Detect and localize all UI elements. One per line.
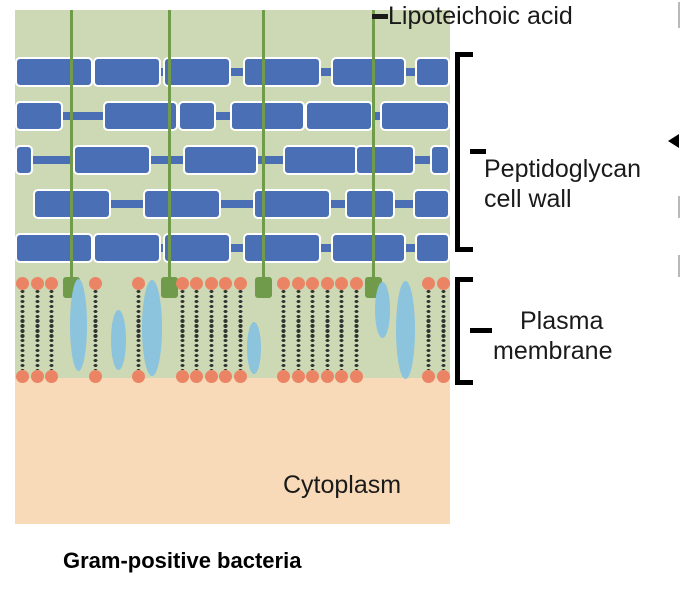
lipoteichoic-acid-strand [262,10,265,281]
plasma-membrane-label-line2: membrane [493,337,613,366]
peptidoglycan-row [15,189,450,219]
peptidoglycan-crosslink [111,200,143,208]
peptidoglycan-block [283,145,358,175]
phospholipid-lower [422,318,435,383]
peptidoglycan-crosslink [63,112,103,120]
peptidoglycan-block [163,57,231,87]
peptidoglycan-block [73,145,151,175]
peptidoglycan-crosslink [321,68,331,76]
peptidoglycan-block [15,57,93,87]
phospholipid-tail [19,318,26,370]
phospholipid-tail [237,318,244,370]
phospholipid-lower [321,318,334,383]
phospholipid-lower [190,318,203,383]
membrane-protein [111,310,126,370]
peptidoglycan-bracket-tick [470,149,486,154]
phospholipid-head [422,370,435,383]
phospholipid-tail [34,318,41,370]
peptidoglycan-row [15,57,450,87]
plasma-membrane-label-line1: Plasma [520,307,603,336]
peptidoglycan-block [430,145,450,175]
peptidoglycan-block [15,145,33,175]
lipoteichoic-acid-leader [372,14,388,19]
phospholipid-tail [48,318,55,370]
figure-caption: Gram-positive bacteria [63,548,301,574]
peptidoglycan-block [93,57,161,87]
peptidoglycan-crosslink [406,244,415,252]
peptidoglycan-crosslink [321,244,331,252]
phospholipid-lower [437,318,450,383]
phospholipid-tail [353,318,360,370]
peptidoglycan-crosslink [33,156,73,164]
peptidoglycan-crosslink [221,200,253,208]
peptidoglycan-block [143,189,221,219]
phospholipid-head [190,370,203,383]
phospholipid-tail [440,318,447,370]
phospholipid-head [292,370,305,383]
peptidoglycan-crosslink [406,68,415,76]
peptidoglycan-block [243,57,321,87]
phospholipid-head [321,370,334,383]
phospholipid-lower [292,318,305,383]
peptidoglycan-crosslink [231,68,243,76]
peptidoglycan-block [415,57,450,87]
plasma-membrane-bracket-tick [470,328,492,333]
lipoteichoic-acid-anchor [255,277,272,298]
phospholipid-head [437,370,450,383]
cytoplasm-background [15,378,450,524]
peptidoglycan-block [163,233,231,263]
peptidoglycan-block [243,233,321,263]
phospholipid-head [234,370,247,383]
cytoplasm-label: Cytoplasm [283,471,401,500]
gram-positive-bacteria-diagram: Lipoteichoic acid Peptidoglycan cell wal… [0,0,682,590]
edge-artifact-middle [678,196,680,218]
phospholipid-head [31,370,44,383]
peptidoglycan-block [230,101,305,131]
peptidoglycan-row [15,233,450,263]
phospholipid-tail [280,318,287,370]
peptidoglycan-block [183,145,258,175]
phospholipid-tail [425,318,432,370]
lipoteichoic-acid-strand [372,10,375,281]
peptidoglycan-block [331,57,406,87]
phospholipid-tail [338,318,345,370]
phospholipid-head [176,370,189,383]
membrane-protein [70,279,87,371]
edge-artifact-top [678,2,680,28]
peptidoglycan-block [103,101,178,131]
edge-arrow-icon [668,134,679,148]
membrane-protein [247,322,261,374]
peptidoglycan-crosslink [395,200,413,208]
phospholipid-tail [179,318,186,370]
peptidoglycan-row [15,145,450,175]
phospholipid-tail [309,318,316,370]
peptidoglycan-crosslink [231,244,243,252]
phospholipid-lower [45,318,58,383]
phospholipid-tail [92,318,99,370]
phospholipid-head [132,370,145,383]
peptidoglycan-crosslink [331,200,345,208]
phospholipid-head [350,370,363,383]
phospholipid-lower [89,318,102,383]
phospholipid-tail [324,318,331,370]
phospholipid-tail [222,318,229,370]
phospholipid-lower [350,318,363,383]
lipoteichoic-acid-strand [168,10,171,281]
membrane-protein [396,281,415,379]
lipoteichoic-acid-strand [70,10,73,281]
peptidoglycan-block [15,101,63,131]
phospholipid-head [306,370,319,383]
phospholipid-head [16,370,29,383]
peptidoglycan-block [345,189,395,219]
phospholipid-tail [208,318,215,370]
peptidoglycan-block [355,145,415,175]
phospholipid-lower [306,318,319,383]
phospholipid-head [45,370,58,383]
peptidoglycan-block [413,189,450,219]
edge-artifact-lower [678,255,680,277]
phospholipid-lower [234,318,247,383]
phospholipid-lower [219,318,232,383]
phospholipid-lower [31,318,44,383]
peptidoglycan-block [305,101,373,131]
lipoteichoic-acid-label: Lipoteichoic acid [388,2,573,31]
peptidoglycan-block [380,101,450,131]
phospholipid-lower [205,318,218,383]
phospholipid-lower [277,318,290,383]
phospholipid-head [205,370,218,383]
membrane-protein [375,282,390,338]
phospholipid-head [219,370,232,383]
peptidoglycan-row [15,101,450,131]
peptidoglycan-block [331,233,406,263]
peptidoglycan-crosslink [151,156,183,164]
peptidoglycan-block [415,233,450,263]
peptidoglycan-block [93,233,161,263]
peptidoglycan-block [15,233,93,263]
peptidoglycan-label-line2: cell wall [484,185,572,214]
phospholipid-tail [135,318,142,370]
peptidoglycan-label-line1: Peptidoglycan [484,155,641,184]
phospholipid-tail [193,318,200,370]
peptidoglycan-block [178,101,216,131]
peptidoglycan-crosslink [216,112,230,120]
phospholipid-head [277,370,290,383]
peptidoglycan-crosslink [415,156,430,164]
phospholipid-head [89,370,102,383]
phospholipid-tail [295,318,302,370]
phospholipid-lower [16,318,29,383]
phospholipid-lower [176,318,189,383]
phospholipid-lower [335,318,348,383]
phospholipid-head [335,370,348,383]
membrane-protein [142,280,162,376]
